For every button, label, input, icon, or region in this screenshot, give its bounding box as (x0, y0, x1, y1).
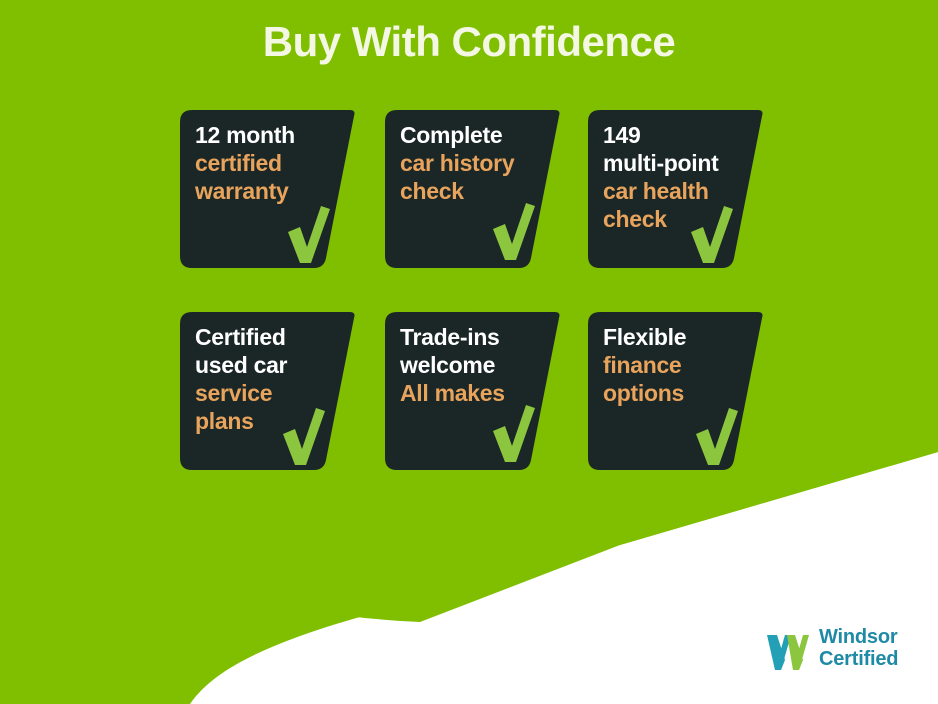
card-line-white-1: used car (195, 351, 345, 379)
card-line-white-0: Trade-ins (400, 323, 550, 351)
card-line-orange-1: check (400, 177, 550, 205)
card-line-orange-0: service (195, 379, 345, 407)
benefit-card-trade-ins-welcome-all-makes[interactable]: Trade-ins welcome All makes (385, 312, 561, 470)
benefit-card-149-multi-point-car-health-check[interactable]: 149 multi-point car health check (588, 110, 764, 268)
card-line-orange-0: certified (195, 149, 345, 177)
card-text-block: 12 month certified warranty (195, 121, 345, 205)
benefit-card-twelve-month-certified-warranty[interactable]: 12 month certified warranty (180, 110, 356, 268)
card-line-orange-0: car health (603, 177, 753, 205)
card-line-white-0: Certified (195, 323, 345, 351)
card-line-white-1: multi-point (603, 149, 753, 177)
card-text-block: Complete car history check (400, 121, 550, 205)
logo-line-2: Certified (819, 649, 898, 671)
card-line-white-0: Flexible (603, 323, 753, 351)
check-icon (285, 205, 331, 265)
card-line-orange-0: car history (400, 149, 550, 177)
card-text-block: Trade-ins welcome All makes (400, 323, 550, 407)
check-icon (490, 404, 536, 464)
check-icon (490, 202, 536, 262)
card-line-orange-1: warranty (195, 177, 345, 205)
logo-wordmark: Windsor Certified (819, 627, 898, 670)
benefit-card-complete-car-history-check[interactable]: Complete car history check (385, 110, 561, 268)
logo-line-1: Windsor (819, 627, 898, 649)
benefit-cards-grid: 12 month certified warranty Complete car… (180, 110, 760, 475)
card-line-orange-0: All makes (400, 379, 550, 407)
windsor-w-icon (764, 626, 810, 672)
card-line-white-1: welcome (400, 351, 550, 379)
check-icon (693, 407, 739, 467)
check-icon (688, 205, 734, 265)
benefit-card-flexible-finance-options[interactable]: Flexible finance options (588, 312, 764, 470)
card-text-block: Flexible finance options (603, 323, 753, 407)
card-line-orange-0: finance (603, 351, 753, 379)
card-line-white-0: Complete (400, 121, 550, 149)
windsor-certified-logo[interactable]: Windsor Certified (764, 626, 898, 672)
poster-canvas: Buy With Confidence 12 month certified w… (0, 0, 938, 704)
card-line-white-0: 149 (603, 121, 753, 149)
check-icon (280, 407, 326, 467)
page-title: Buy With Confidence (0, 18, 938, 66)
card-line-orange-1: options (603, 379, 753, 407)
card-line-white-0: 12 month (195, 121, 345, 149)
benefit-card-certified-used-car-service-plans[interactable]: Certified used car service plans (180, 312, 356, 470)
